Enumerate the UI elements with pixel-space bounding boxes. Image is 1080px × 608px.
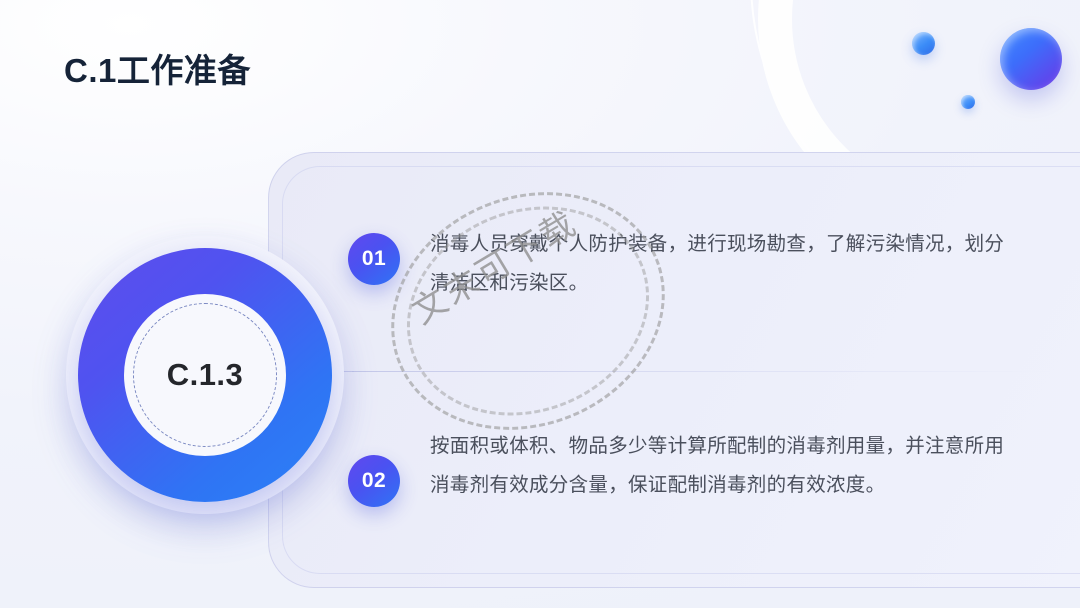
hub-label: C.1.3 [124,294,286,456]
decor-sphere-small-icon [961,95,975,109]
decor-sphere-medium-icon [912,32,935,55]
decor-sphere-large-icon [1000,28,1062,90]
item-text-01: 消毒人员穿戴个人防护装备，进行现场勘查，了解污染情况，划分清洁区和污染区。 [430,225,1016,303]
content-panel [268,152,1080,588]
slide-canvas: C.1工作准备 C.1.3 01 消毒人员穿戴个人防护装备，进行现场勘查，了解污… [0,0,1080,608]
item-badge-01[interactable]: 01 [348,233,400,285]
item-text-02: 按面积或体积、物品多少等计算所配制的消毒剂用量，并注意所用消毒剂有效成分含量，保… [430,427,1016,505]
item-badge-02[interactable]: 02 [348,455,400,507]
page-title: C.1工作准备 [64,44,251,92]
row-divider [352,371,1052,372]
